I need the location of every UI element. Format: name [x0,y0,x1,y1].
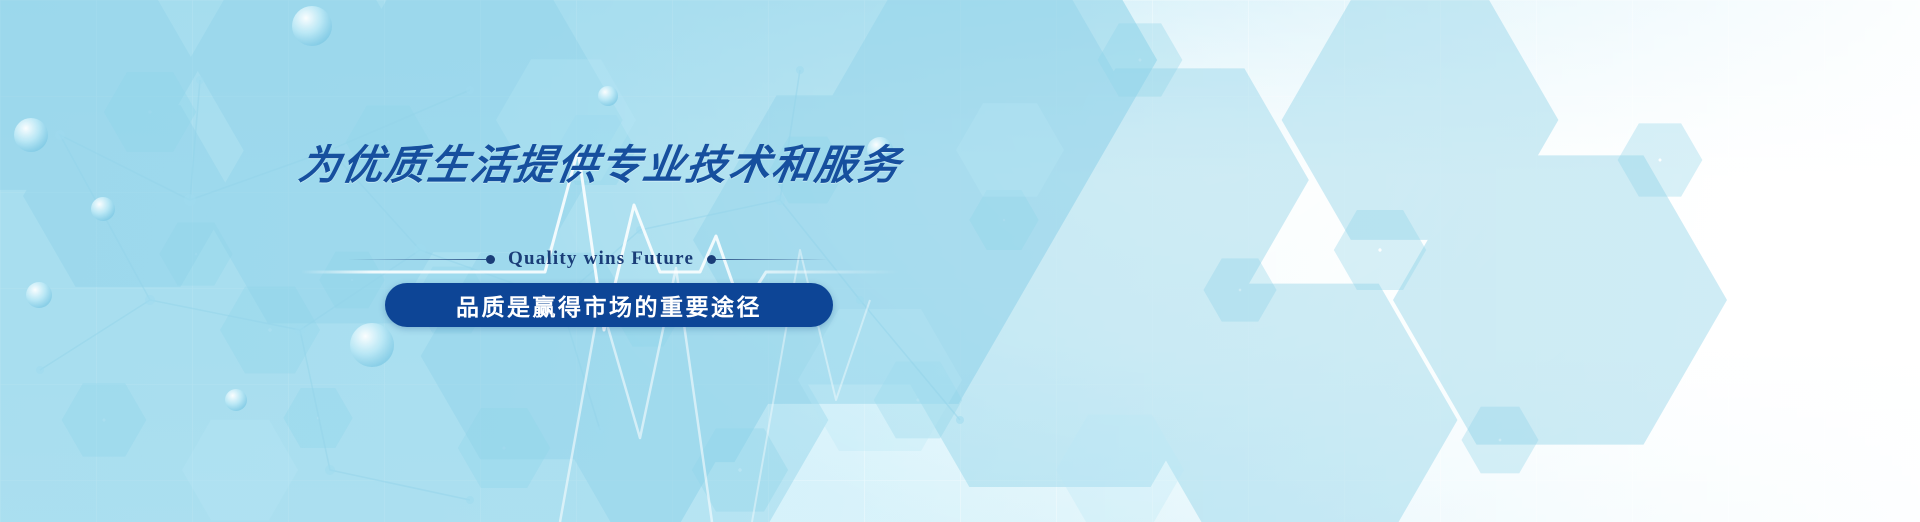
tagline-row: Quality wins Future [348,248,786,270]
slogan-pill-button[interactable]: 品质是赢得市场的重要途径 [385,283,833,327]
tagline-dot-right [707,255,716,264]
tagline-dot-left [486,255,495,264]
banner-headline: 为优质生活提供专业技术和服务 [295,131,907,191]
banner-tagline: Quality wins Future [495,248,707,270]
tagline-rule-left [348,259,486,260]
hero-banner: 为优质生活提供专业技术和服务 Quality wins Future 品质是赢得… [0,0,1920,522]
tagline-rule-right [716,259,828,260]
slogan-pill-label: 品质是赢得市场的重要途径 [456,288,762,322]
banner-copy: 为优质生活提供专业技术和服务 Quality wins Future 品质是赢得… [0,0,900,522]
